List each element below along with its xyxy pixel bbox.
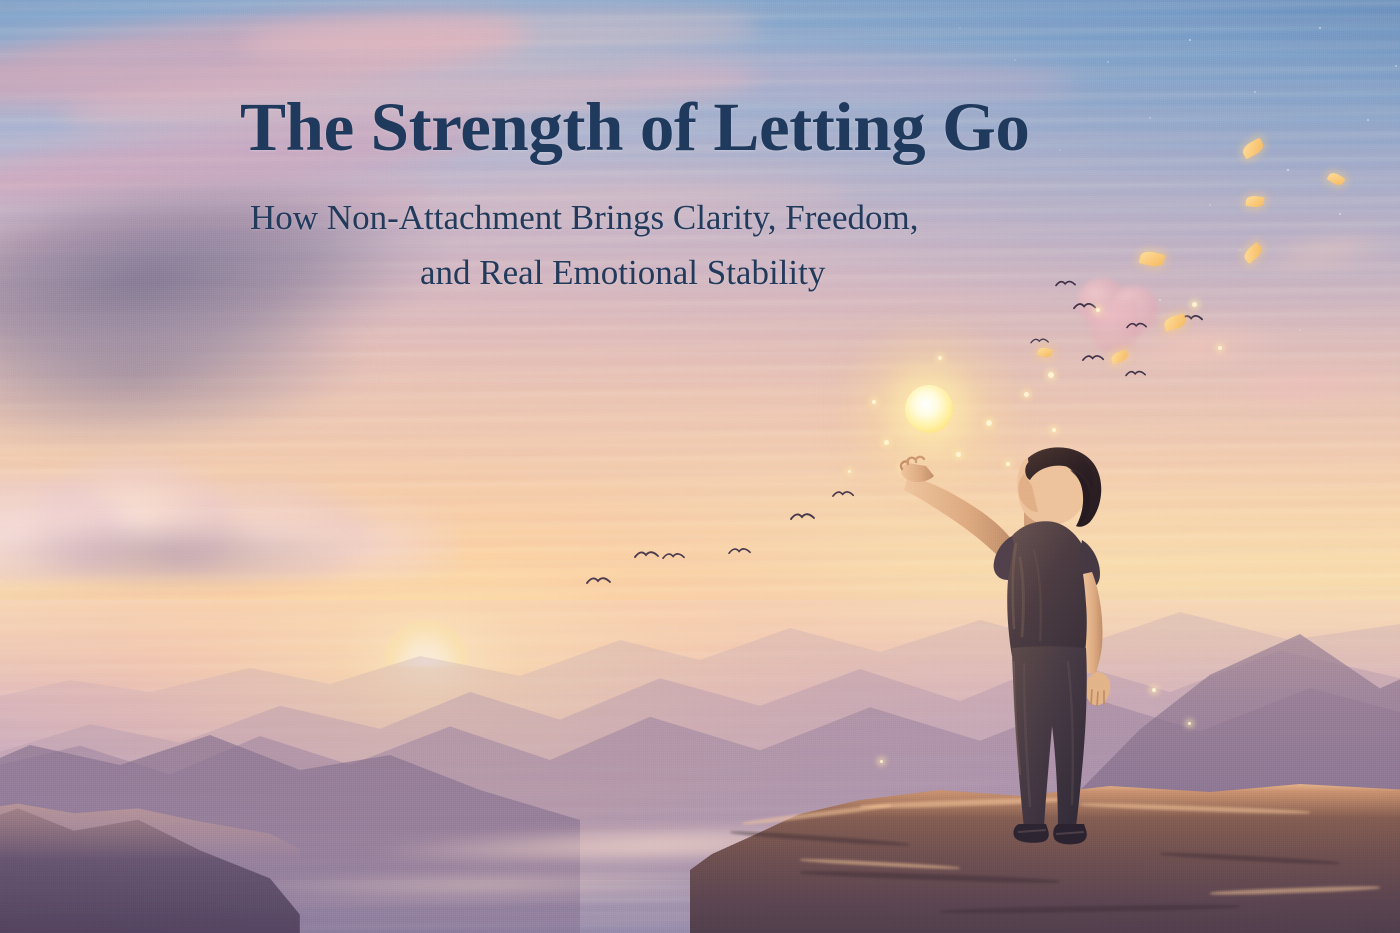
bird-icon	[790, 510, 816, 522]
light-mote	[938, 356, 942, 360]
page-title: The Strength of Letting Go	[240, 92, 1160, 164]
finger	[916, 457, 924, 462]
light-mote	[848, 470, 851, 473]
finger	[1097, 692, 1098, 706]
bird-icon	[662, 550, 686, 561]
boy-figure	[900, 440, 1170, 870]
t-shirt	[1007, 521, 1092, 656]
page-subtitle: How Non-Attachment Brings Clarity, Freed…	[250, 190, 1150, 301]
light-mote	[1188, 722, 1191, 725]
bird-icon	[1126, 320, 1148, 330]
light-mote	[880, 760, 883, 763]
light-mote	[1052, 428, 1056, 432]
open-hand	[901, 463, 934, 482]
shoe-left	[1013, 824, 1048, 843]
light-mote	[1048, 372, 1054, 378]
bird-icon	[728, 545, 752, 556]
finger	[908, 458, 915, 464]
bird-icon	[1125, 368, 1147, 378]
subtitle-line-1: How Non-Attachment Brings Clarity, Freed…	[250, 190, 1150, 245]
raised-arm	[904, 476, 1012, 558]
subtitle-line-2: and Real Emotional Stability	[420, 245, 1150, 300]
bird-icon	[1082, 352, 1105, 363]
bird-icon	[1030, 336, 1050, 345]
finger	[1091, 690, 1092, 704]
glowing-orb	[905, 385, 953, 433]
light-mote	[1024, 392, 1029, 397]
bird-icon	[832, 488, 855, 499]
light-mote	[884, 440, 889, 445]
light-mote	[1096, 308, 1100, 312]
bird-icon	[634, 548, 660, 560]
bird-icon	[1073, 300, 1097, 311]
bird-icon	[586, 574, 612, 586]
light-mote	[986, 420, 992, 426]
light-mote	[872, 400, 876, 404]
light-mote	[1218, 346, 1222, 350]
light-mote	[1192, 302, 1197, 307]
hero-banner: The Strength of Letting Go How Non-Attac…	[0, 0, 1400, 933]
